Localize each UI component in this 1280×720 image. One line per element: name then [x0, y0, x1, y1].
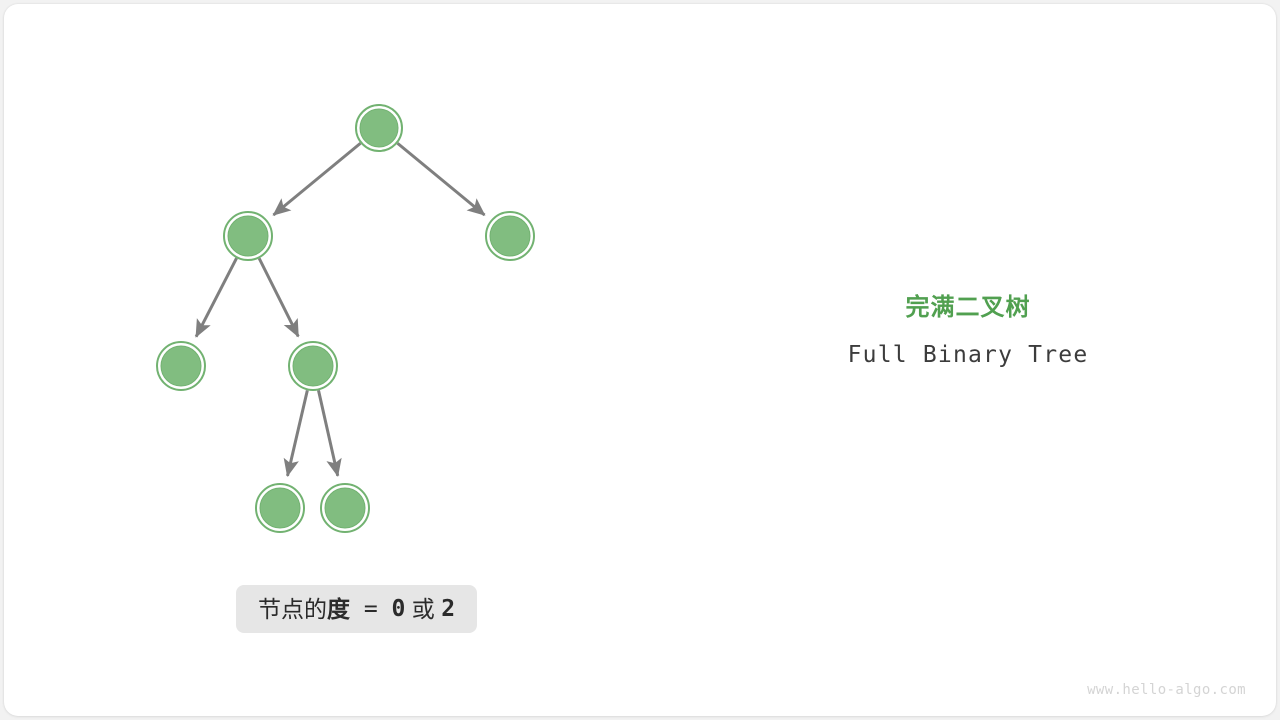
tree-node-layer [157, 105, 534, 532]
degree-annotation-pill: 节点的度 = 0 或 2 [236, 585, 477, 633]
tree-node-disc [260, 488, 300, 528]
tree-node [256, 484, 304, 532]
tree-node-disc [490, 216, 530, 256]
tree-node [224, 212, 272, 260]
tree-edge [287, 390, 307, 476]
degree-label-prefix: 节点的 [258, 598, 327, 621]
degree-label-equals: = [350, 598, 392, 621]
tree-edge-layer [196, 143, 484, 476]
tree-node [321, 484, 369, 532]
tree-node [486, 212, 534, 260]
diagram-canvas: 完满二叉树 Full Binary Tree 节点的度 = 0 或 2 www.… [0, 0, 1280, 720]
tree-edge [319, 390, 338, 475]
tree-node [289, 342, 337, 390]
caption-english-title: Full Binary Tree [768, 340, 1168, 370]
tree-node-disc [293, 346, 333, 386]
tree-node-disc [360, 109, 398, 147]
tree-node-disc [325, 488, 365, 528]
tree-node [356, 105, 402, 151]
tree-edge [196, 258, 236, 336]
tree-edge [273, 143, 360, 215]
tree-edge [398, 143, 485, 215]
degree-label-degree-word: 度 [327, 598, 350, 621]
tree-node [157, 342, 205, 390]
degree-label-or-word: 或 [405, 598, 441, 621]
tree-node-disc [228, 216, 268, 256]
tree-node-disc [161, 346, 201, 386]
degree-label-value-two: 2 [441, 598, 455, 621]
site-watermark: www.hello-algo.com [1087, 682, 1246, 698]
caption-chinese-title: 完满二叉树 [768, 292, 1168, 324]
degree-label-value-zero: 0 [392, 598, 406, 621]
caption-block: 完满二叉树 Full Binary Tree [768, 292, 1168, 370]
tree-edge [259, 258, 298, 336]
